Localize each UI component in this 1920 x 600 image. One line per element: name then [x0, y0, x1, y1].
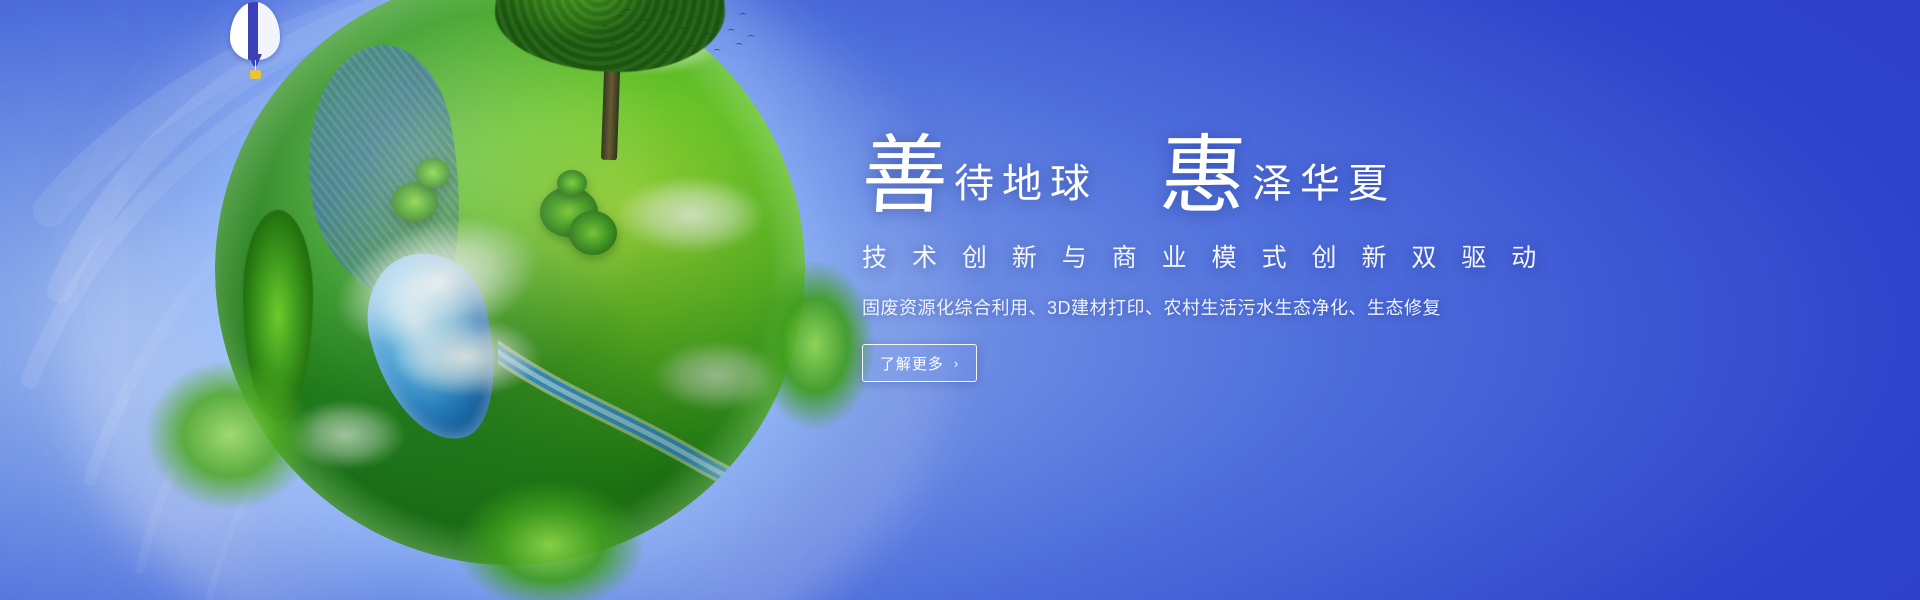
- balloon-basket: [250, 70, 261, 79]
- headline-big-char-one: 善: [860, 137, 950, 216]
- flock-of-birds-icon: [595, 5, 765, 65]
- headline-phrase-two: 惠 泽华夏: [1160, 137, 1396, 216]
- tree-icon: [755, 260, 875, 430]
- banner-copy-block: 善 待地球 惠 泽华夏 技 术 创 新 与 商 业 模 式 创 新 双 驱 动 …: [862, 120, 1762, 382]
- banner-description: 固废资源化综合利用、3D建材打印、农村生活污水生态净化、生态修复: [862, 294, 1762, 320]
- balloon-envelope: [230, 2, 280, 60]
- banner-subtitle: 技 术 创 新 与 商 业 模 式 创 新 双 驱 动: [862, 238, 1762, 274]
- tree-icon: [145, 360, 315, 510]
- hero-banner: 善 待地球 惠 泽华夏 技 术 创 新 与 商 业 模 式 创 新 双 驱 动 …: [0, 0, 1920, 600]
- page-title: 善 待地球 惠 泽华夏: [862, 120, 1762, 216]
- hot-air-balloon-icon: [230, 2, 280, 80]
- headline-phrase-one: 善 待地球: [862, 137, 1098, 216]
- learn-more-label: 了解更多: [880, 353, 944, 374]
- learn-more-button[interactable]: 了解更多 ›: [862, 344, 977, 382]
- headline-small-chars-two: 泽华夏: [1252, 164, 1396, 216]
- headline-small-chars-one: 待地球: [954, 164, 1098, 216]
- tree-icon: [455, 480, 645, 600]
- chevron-right-icon: ›: [954, 356, 959, 371]
- tiny-planet-illustration: [155, 0, 855, 600]
- headline-big-char-two: 惠: [1158, 137, 1248, 216]
